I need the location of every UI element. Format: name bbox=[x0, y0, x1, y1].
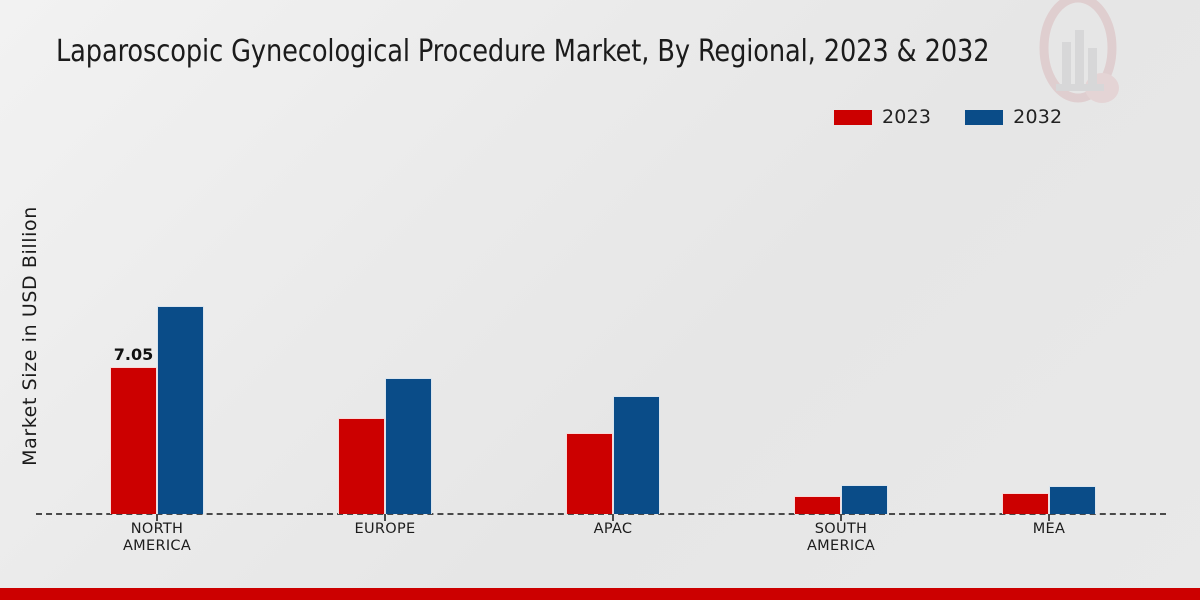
x-axis-label-europe: EUROPE bbox=[285, 521, 485, 538]
x-axis-tick-south-america bbox=[840, 514, 842, 521]
bar-south-america-2023[interactable] bbox=[794, 496, 841, 514]
bar-north-america-2023[interactable]: 7.05 bbox=[110, 367, 157, 514]
bars-europe bbox=[338, 378, 432, 514]
bar-south-america-2032[interactable] bbox=[841, 485, 888, 514]
bar-mea-2032[interactable] bbox=[1049, 486, 1096, 514]
bar-europe-2032[interactable] bbox=[385, 378, 432, 514]
bottom-accent-band bbox=[0, 588, 1200, 600]
x-axis-label-south-america-line2: AMERICA bbox=[741, 538, 941, 555]
x-axis-label-mea-line1: MEA bbox=[949, 521, 1149, 538]
x-axis-tick-north-america bbox=[156, 514, 158, 521]
bars-south-america bbox=[794, 485, 888, 514]
x-axis-tick-apac bbox=[612, 514, 614, 521]
bars-north-america: 7.05 bbox=[110, 306, 204, 514]
bars-apac bbox=[566, 396, 660, 514]
x-axis-tick-mea bbox=[1048, 514, 1050, 521]
bar-apac-2032[interactable] bbox=[613, 396, 660, 514]
x-axis-label-north-america-line1: NORTH bbox=[57, 521, 257, 538]
chart-container: Laparoscopic Gynecological Procedure Mar… bbox=[0, 0, 1200, 600]
bar-north-america-2032[interactable] bbox=[157, 306, 204, 514]
x-axis-label-apac: APAC bbox=[513, 521, 713, 538]
bars-mea bbox=[1002, 486, 1096, 514]
x-axis-label-north-america: NORTH AMERICA bbox=[57, 521, 257, 555]
x-axis-tick-europe bbox=[384, 514, 386, 521]
bar-apac-2023[interactable] bbox=[566, 433, 613, 514]
bar-value-north-america-2023: 7.05 bbox=[114, 345, 153, 364]
x-axis-label-mea: MEA bbox=[949, 521, 1149, 538]
x-axis-label-north-america-line2: AMERICA bbox=[57, 538, 257, 555]
bar-mea-2023[interactable] bbox=[1002, 493, 1049, 514]
bar-europe-2023[interactable] bbox=[338, 418, 385, 514]
plot-area: 7.05 NORTH AMERICA EUROPE bbox=[0, 0, 1200, 600]
x-axis-label-south-america-line1: SOUTH bbox=[741, 521, 941, 538]
x-axis-label-apac-line1: APAC bbox=[513, 521, 713, 538]
x-axis-label-south-america: SOUTH AMERICA bbox=[741, 521, 941, 555]
x-axis-label-europe-line1: EUROPE bbox=[285, 521, 485, 538]
